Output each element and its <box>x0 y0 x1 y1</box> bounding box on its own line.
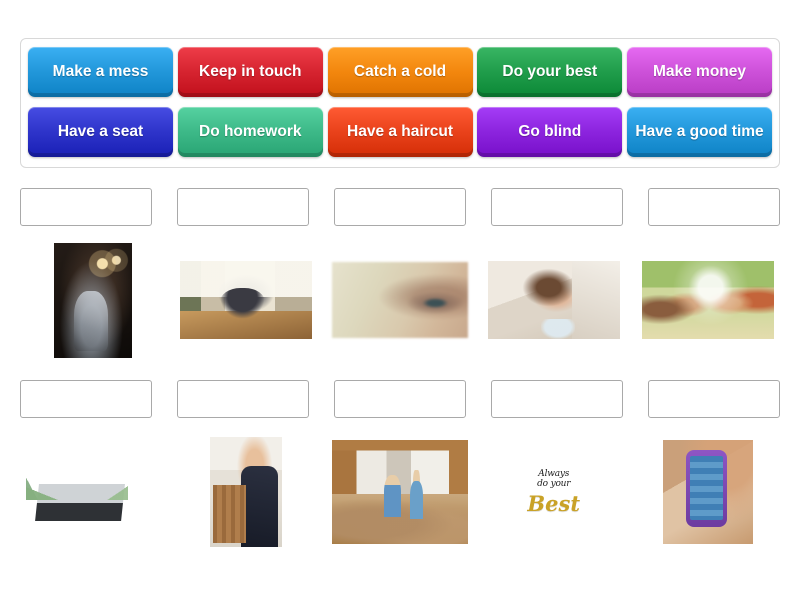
image-cell-9: Always do your Best <box>481 432 626 552</box>
activity-stage: Make a mess Keep in touch Catch a cold D… <box>0 0 800 600</box>
image-cell-3 <box>328 240 473 360</box>
lettering-line-1: Always <box>538 470 569 479</box>
image-blurred-eye <box>332 262 468 338</box>
drop-zone-8[interactable] <box>334 380 466 418</box>
tile-go-blind[interactable]: Go blind <box>477 107 622 157</box>
tile-catch-a-cold[interactable]: Catch a cold <box>328 47 473 97</box>
drop-zone-10[interactable] <box>648 380 780 418</box>
drop-zone-1[interactable] <box>20 188 152 226</box>
drop-zone-7[interactable] <box>177 380 309 418</box>
tile-row-1: Make a mess Keep in touch Catch a cold D… <box>28 47 772 99</box>
tile-do-homework[interactable]: Do homework <box>178 107 323 157</box>
drop-zone-row-1 <box>20 188 780 226</box>
image-cell-2 <box>174 240 319 360</box>
image-sick-person-in-bed <box>488 261 620 339</box>
image-row-1 <box>20 240 780 360</box>
image-cell-1 <box>20 240 165 360</box>
drop-zone-4[interactable] <box>491 188 623 226</box>
drop-zone-row-2 <box>20 380 780 418</box>
image-money-flying-laptop <box>24 440 162 544</box>
tile-keep-in-touch[interactable]: Keep in touch <box>178 47 323 97</box>
drop-zone-3[interactable] <box>334 188 466 226</box>
image-friends-celebrating <box>642 261 774 339</box>
lettering-line-3: Best <box>527 493 580 514</box>
drop-zone-5[interactable] <box>648 188 780 226</box>
word-tile-tray: Make a mess Keep in touch Catch a cold D… <box>20 38 780 168</box>
image-cell-10 <box>635 432 780 552</box>
image-always-do-your-best-lettering: Always do your Best <box>516 438 592 546</box>
tile-make-money[interactable]: Make money <box>627 47 772 97</box>
image-woman-taking-seat <box>210 437 282 547</box>
image-student-homework <box>180 261 312 339</box>
image-cell-7 <box>174 432 319 552</box>
image-cell-6 <box>20 432 165 552</box>
image-cell-8 <box>328 432 473 552</box>
image-kids-kitchen-mess <box>332 440 468 544</box>
lettering-line-2: do your <box>537 480 570 489</box>
tile-do-your-best[interactable]: Do your best <box>477 47 622 97</box>
image-hand-holding-phone <box>663 440 753 544</box>
tile-make-a-mess[interactable]: Make a mess <box>28 47 173 97</box>
drop-zone-9[interactable] <box>491 380 623 418</box>
image-row-2: Always do your Best <box>20 432 780 552</box>
tile-have-a-haircut[interactable]: Have a haircut <box>328 107 473 157</box>
image-barbershop-haircut <box>54 243 132 358</box>
image-cell-5 <box>635 240 780 360</box>
tile-have-a-seat[interactable]: Have a seat <box>28 107 173 157</box>
drop-zone-2[interactable] <box>177 188 309 226</box>
tile-row-2: Have a seat Do homework Have a haircut G… <box>28 107 772 159</box>
image-cell-4 <box>481 240 626 360</box>
tile-have-a-good-time[interactable]: Have a good time <box>627 107 772 157</box>
drop-zone-6[interactable] <box>20 380 152 418</box>
